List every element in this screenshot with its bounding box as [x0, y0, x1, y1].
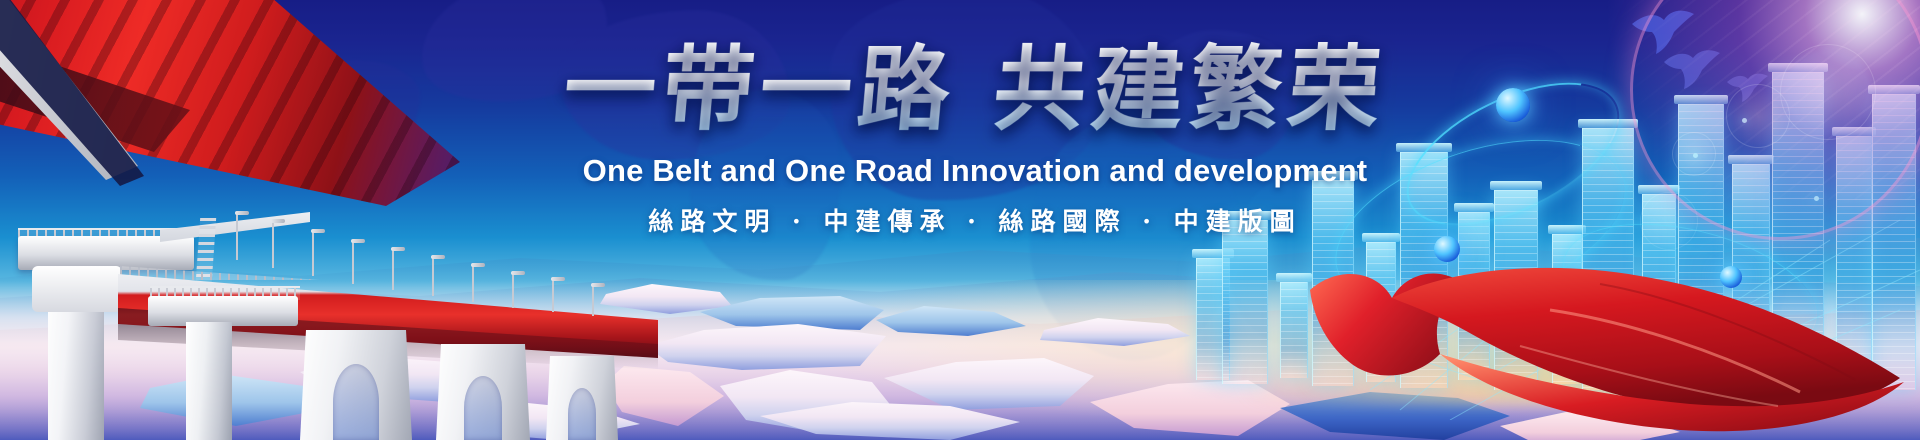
- glow-node-3: [1720, 266, 1742, 288]
- distant-hill-layer-3: [0, 286, 1920, 356]
- banner-subtitle-chinese: 絲路文明 · 中建傳承 · 絲路國際 · 中建版圖: [30, 202, 1920, 238]
- banner-subtitle-english: One Belt and One Road Innovation and dev…: [30, 153, 1920, 189]
- arched-pier-1: [300, 330, 412, 440]
- glow-node-2: [1434, 236, 1460, 262]
- pier-2-column: [186, 322, 232, 440]
- distant-hill-layer-2: [0, 258, 1920, 320]
- city-base-glow: [1240, 284, 1860, 404]
- banner-title-calligraphy: 一带一路 共建繁荣: [26, 40, 1920, 139]
- distant-hill-layer-1: [0, 232, 1920, 288]
- arched-pier-2: [436, 344, 530, 440]
- arched-pier-3: [546, 356, 618, 440]
- bridge-lower-deck-shadow: [118, 300, 658, 370]
- horizon-haze: [0, 280, 1920, 440]
- pier-2-capital: [148, 296, 298, 326]
- pier-1-capital: [18, 236, 194, 270]
- bridge-lower-deck: [118, 268, 658, 358]
- red-silk-ribbon: [1300, 250, 1920, 440]
- pier-2-railing: [150, 286, 300, 300]
- belt-and-road-banner: 一带一路 共建繁荣 One Belt and One Road Innovati…: [0, 0, 1920, 440]
- world-map-landmasses: [0, 262, 1920, 440]
- banner-text-block: 一带一路 共建繁荣 One Belt and One Road Innovati…: [0, 40, 1920, 238]
- bridge-lower-railing: [120, 258, 660, 280]
- pier-1-column: [48, 266, 104, 440]
